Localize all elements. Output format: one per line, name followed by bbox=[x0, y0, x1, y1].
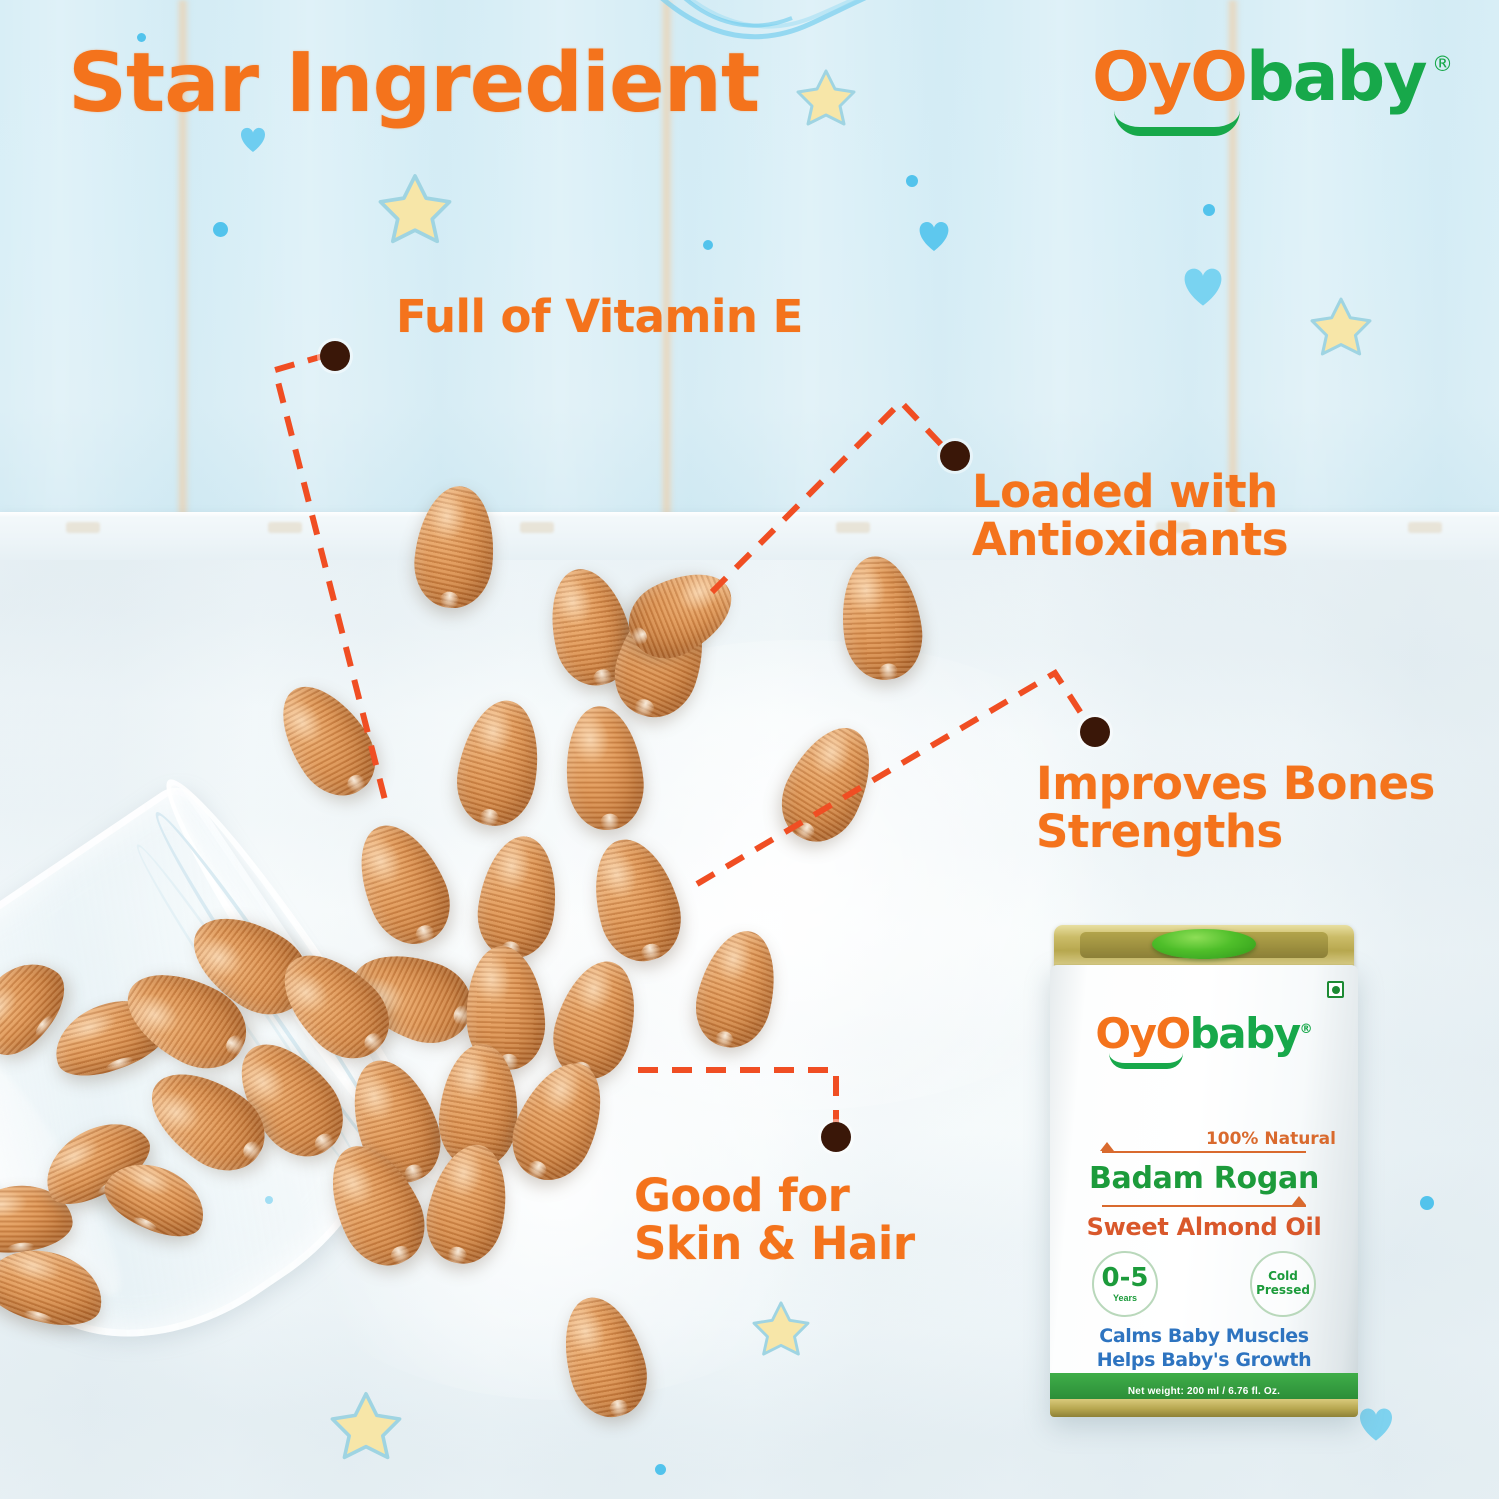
logo-smile-icon bbox=[1114, 110, 1240, 136]
callout-bones-line1: Improves Bones bbox=[1036, 760, 1435, 808]
dot-decor-icon bbox=[655, 1464, 666, 1475]
callout-dot-bones bbox=[1080, 717, 1110, 747]
product-brand-logo: OyObaby® bbox=[1050, 1013, 1358, 1055]
callout-dot-vitamin-e bbox=[320, 341, 350, 371]
callout-bones: Improves Bones Strengths bbox=[1036, 760, 1435, 856]
registered-mark-icon: ® bbox=[1432, 52, 1453, 76]
promo-banner: Star Ingredient OyObaby ® Full of Vitami… bbox=[0, 0, 1499, 1499]
cold-pressed-badge: Cold Pressed bbox=[1250, 1251, 1316, 1317]
tin-base bbox=[1050, 1399, 1358, 1417]
benefit-line-1: Calms Baby Muscles bbox=[1050, 1325, 1358, 1349]
natural-claim: 100% Natural bbox=[1206, 1129, 1336, 1149]
product-logo-smile-icon bbox=[1109, 1053, 1183, 1069]
cold-pressed-line1: Cold bbox=[1268, 1270, 1298, 1284]
product-logo-secondary-text: baby bbox=[1190, 1009, 1300, 1058]
product-logo-primary-text: OyO bbox=[1095, 1009, 1189, 1058]
product-subtitle: Sweet Almond Oil bbox=[1050, 1213, 1358, 1241]
almond bbox=[410, 482, 500, 611]
benefit-line-2: Helps Baby's Growth bbox=[1050, 1349, 1358, 1373]
almond bbox=[560, 702, 649, 833]
callout-antioxidants-line1: Loaded with bbox=[972, 468, 1288, 516]
callout-antioxidants: Loaded with Antioxidants bbox=[972, 468, 1288, 564]
callout-vitamin-e-line1: Full of Vitamin E bbox=[396, 293, 803, 341]
callout-antioxidants-line2: Antioxidants bbox=[972, 516, 1288, 564]
dot-decor-icon bbox=[1203, 204, 1215, 216]
age-badge-unit: Years bbox=[1113, 1293, 1137, 1303]
dot-decor-icon bbox=[1420, 1196, 1434, 1210]
dot-decor-icon bbox=[703, 240, 713, 250]
triangle-marker-icon bbox=[1292, 1196, 1306, 1205]
callout-dot-skin-hair bbox=[821, 1122, 851, 1152]
callout-skin-hair: Good for Skin & Hair bbox=[634, 1172, 915, 1268]
divider bbox=[1102, 1205, 1306, 1207]
logo-primary-text: OyO bbox=[1092, 38, 1246, 117]
product-name: Badam Rogan bbox=[1050, 1161, 1358, 1196]
tin-label: OyObaby® 100% Natural Badam Rogan Sweet … bbox=[1050, 965, 1358, 1417]
callout-skin-hair-line1: Good for bbox=[634, 1172, 915, 1220]
callout-skin-hair-line2: Skin & Hair bbox=[634, 1220, 915, 1268]
page-title: Star Ingredient bbox=[68, 36, 759, 131]
product-registered-mark-icon: ® bbox=[1300, 1022, 1313, 1037]
divider bbox=[1102, 1151, 1306, 1153]
vegetarian-mark-icon bbox=[1327, 981, 1344, 998]
tin-cap-icon bbox=[1152, 929, 1256, 959]
dot-decor-icon bbox=[906, 175, 918, 187]
cold-pressed-line2: Pressed bbox=[1256, 1284, 1310, 1298]
age-badge-value: 0-5 bbox=[1102, 1265, 1149, 1291]
callout-bones-line2: Strengths bbox=[1036, 808, 1435, 856]
brand-logo: OyObaby ® bbox=[1092, 44, 1462, 140]
logo-secondary-text: baby bbox=[1246, 38, 1426, 117]
callout-dot-antioxidants bbox=[940, 441, 970, 471]
product-tin[interactable]: OyObaby® 100% Natural Badam Rogan Sweet … bbox=[1044, 925, 1364, 1445]
callout-vitamin-e: Full of Vitamin E bbox=[396, 293, 803, 341]
dot-decor-icon bbox=[213, 222, 228, 237]
triangle-marker-icon bbox=[1100, 1142, 1114, 1151]
net-weight-text: Net weight: 200 ml / 6.76 fl. Oz. bbox=[1050, 1386, 1358, 1397]
age-badge: 0-5 Years bbox=[1092, 1251, 1158, 1317]
